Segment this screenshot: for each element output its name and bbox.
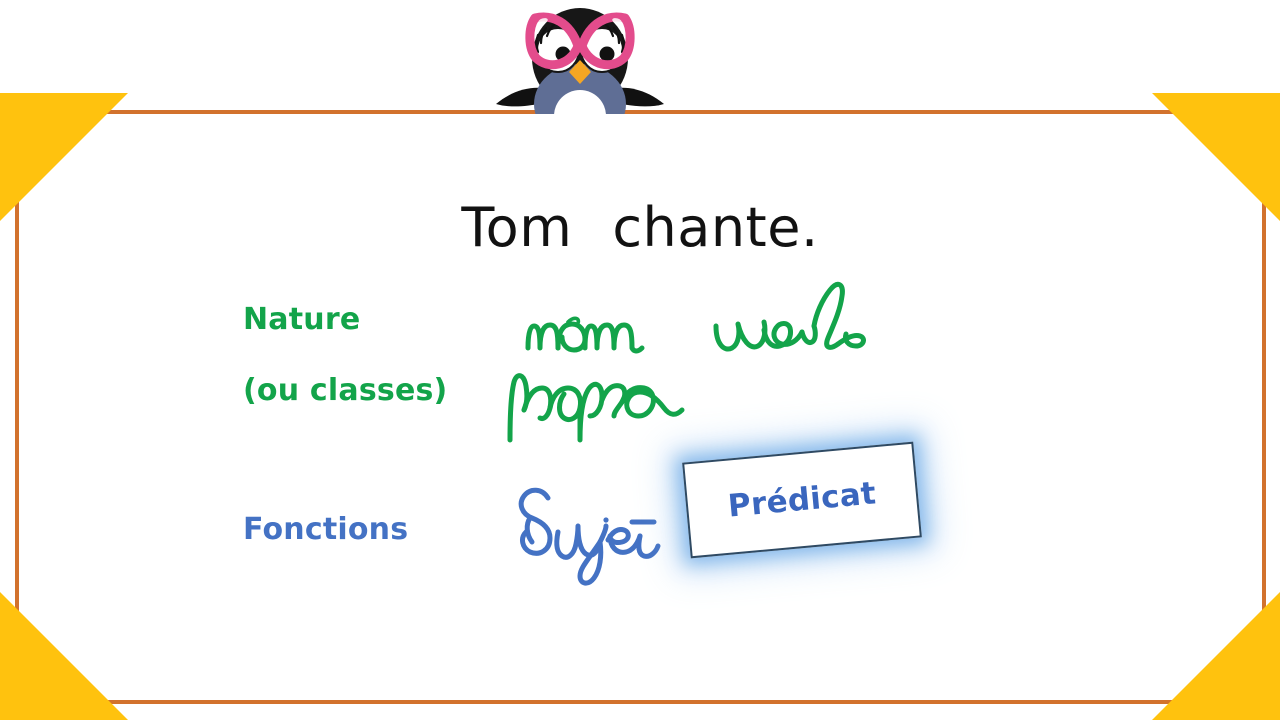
sentence-subject-word: Tom xyxy=(461,196,572,259)
handwritten-word-verbe xyxy=(712,278,872,375)
handwritten-word-propre xyxy=(498,358,688,455)
penguin-mascot-icon xyxy=(490,0,670,114)
predicat-highlight-card[interactable]: Prédicat xyxy=(682,442,922,559)
predicat-card-label: Prédicat xyxy=(726,475,877,524)
row-label-classes: (ou classes) xyxy=(243,373,447,408)
row-label-fonctions: Fonctions xyxy=(243,512,408,547)
corner-triangle-bottom-right xyxy=(1152,592,1280,720)
sentence-predicate-word: chante. xyxy=(612,196,818,259)
handwritten-word-sujet xyxy=(508,480,668,595)
row-label-nature: Nature xyxy=(243,302,360,337)
frame-border-bottom xyxy=(15,700,1266,704)
slide-canvas: Tomchante. Nature (ou classes) Fonctions xyxy=(0,0,1280,720)
corner-triangle-bottom-left xyxy=(0,592,128,720)
analysed-sentence: Tomchante. xyxy=(0,196,1280,259)
